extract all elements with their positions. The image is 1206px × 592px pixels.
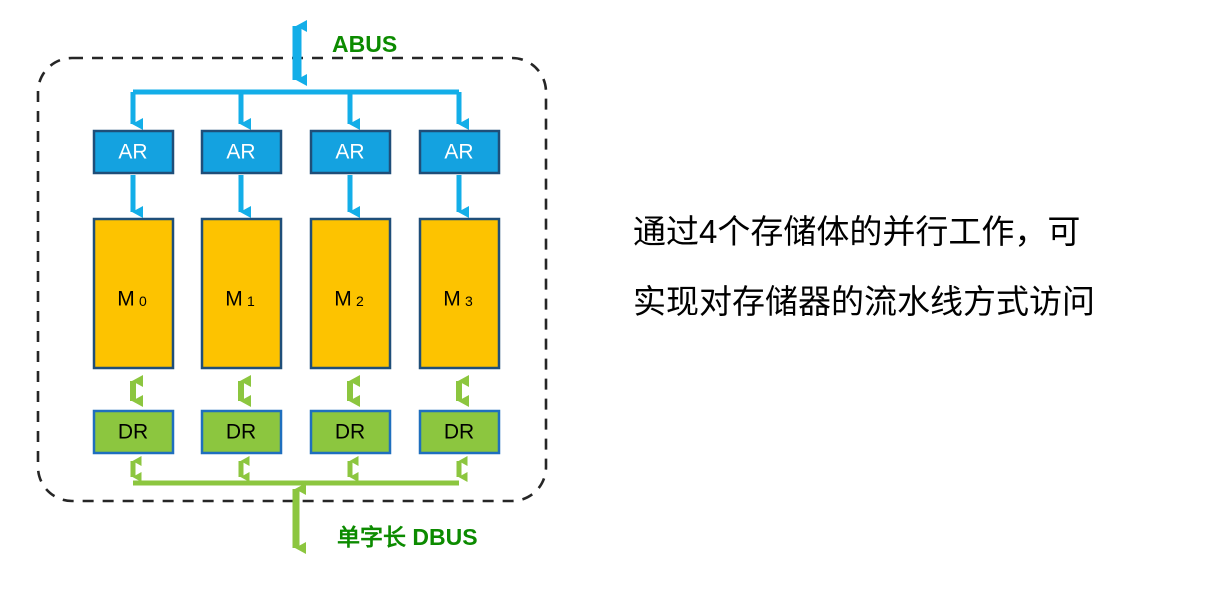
memory-bank-label-1: M (225, 288, 243, 311)
dr-box-1: DR (202, 411, 281, 453)
memory-bank-1: M 1 (202, 219, 281, 368)
ar-box-2: AR (311, 131, 390, 173)
note-line-1: 通过4个存储体的并行工作，可 (633, 213, 1080, 250)
dr-box-3: DR (420, 411, 499, 453)
dr-label-0: DR (118, 421, 148, 444)
dbus-label: 单字长 DBUS (337, 524, 478, 550)
ar-box-3: AR (420, 131, 499, 173)
memory-bank-label-0: M (117, 288, 135, 311)
memory-bank-subscript-2: 2 (356, 293, 364, 309)
ar-box-0: AR (94, 131, 173, 173)
memory-bank-label-2: M (334, 288, 352, 311)
dr-box-2: DR (311, 411, 390, 453)
memory-bank-2: M 2 (311, 219, 390, 368)
memory-bank-subscript-1: 1 (247, 293, 255, 309)
ar-label-0: AR (118, 141, 147, 164)
ar-label-1: AR (226, 141, 255, 164)
memory-bank-label-3: M (443, 288, 461, 311)
dr-label-1: DR (226, 421, 256, 444)
memory-bank-3: M 3 (420, 219, 499, 368)
dr-label-3: DR (444, 421, 474, 444)
ar-label-2: AR (335, 141, 364, 164)
memory-interleaving-diagram: ABUS AR AR AR AR M 0 M 1 M 2 (0, 0, 1206, 592)
memory-bank-subscript-3: 3 (465, 293, 473, 309)
ar-box-1: AR (202, 131, 281, 173)
dr-label-2: DR (335, 421, 365, 444)
abus-label: ABUS (332, 31, 397, 57)
note-line-2: 实现对存储器的流水线方式访问 (633, 283, 1095, 320)
ar-label-3: AR (444, 141, 473, 164)
dr-box-0: DR (94, 411, 173, 453)
memory-bank-subscript-0: 0 (139, 293, 147, 309)
memory-bank-0: M 0 (94, 219, 173, 368)
